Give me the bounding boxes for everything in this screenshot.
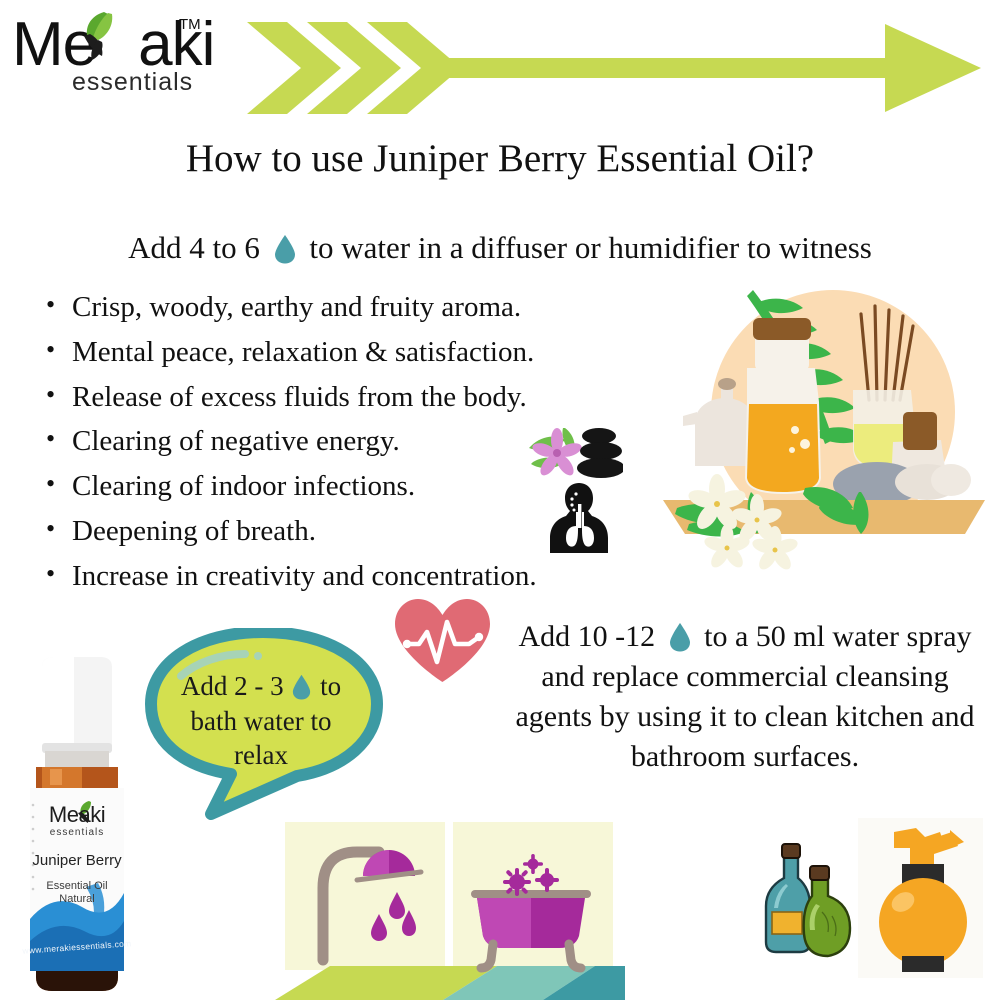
lungs-breathing-icon	[548, 482, 610, 554]
bottle-brand: Meaki	[12, 802, 142, 827]
water-drop-icon	[292, 674, 311, 700]
bottle-product-type: Essential OilNatural	[12, 880, 142, 905]
bath-tip-bubble: Add 2 - 3 to bath water to relax	[145, 628, 383, 828]
spray-bottle-icon	[858, 818, 983, 978]
infographic-page: Meaki TM essentials How to use Juniper B…	[0, 0, 1000, 1000]
spray-bottle-graphic	[858, 818, 983, 978]
lead-text-after: to water in a diffuser or humidifier to …	[309, 230, 871, 265]
brand-logo: Meaki TM essentials	[12, 8, 222, 103]
product-bottle: Meaki essentials Juniper Berry Essential…	[12, 655, 142, 1000]
list-item: Mental peace, relaxation & satisfaction.	[42, 332, 642, 374]
right-text-before: Add 10 -12	[518, 620, 655, 653]
bath-tip-text: Add 2 - 3 to bath water to relax	[161, 669, 361, 773]
brand-logo-tagline: essentials	[72, 70, 193, 95]
spa-diffuser-illustration	[655, 272, 995, 577]
bottle-product-name: Juniper Berry	[12, 852, 142, 869]
bathroom-illustration	[275, 818, 625, 1000]
bottle-brand-sub: essentials	[12, 827, 142, 839]
page-title: How to use Juniper Berry Essential Oil?	[0, 136, 1000, 181]
cleaning-spray-instruction: Add 10 -12 to a 50 ml water spray and re…	[500, 617, 990, 777]
leaf-icon	[78, 10, 122, 62]
water-drop-icon	[274, 234, 296, 264]
list-item: Release of excess fluids from the body.	[42, 377, 642, 419]
lead-instruction: Add 4 to 6 to water in a diffuser or hum…	[0, 231, 1000, 265]
glass-oil-bottles-icon	[762, 838, 854, 963]
trademark-symbol: TM	[179, 16, 201, 33]
list-item: Increase in creativity and concentration…	[42, 556, 642, 598]
water-drop-icon	[669, 622, 691, 652]
spa-stones-flower-icon	[527, 424, 623, 480]
arrow-right-icon	[245, 18, 985, 118]
lead-text-before: Add 4 to 6	[128, 230, 260, 265]
heartbeat-icon	[391, 596, 494, 684]
list-item: Crisp, woody, earthy and fruity aroma.	[42, 287, 642, 329]
bubble-text-before: Add 2 - 3	[181, 671, 284, 701]
